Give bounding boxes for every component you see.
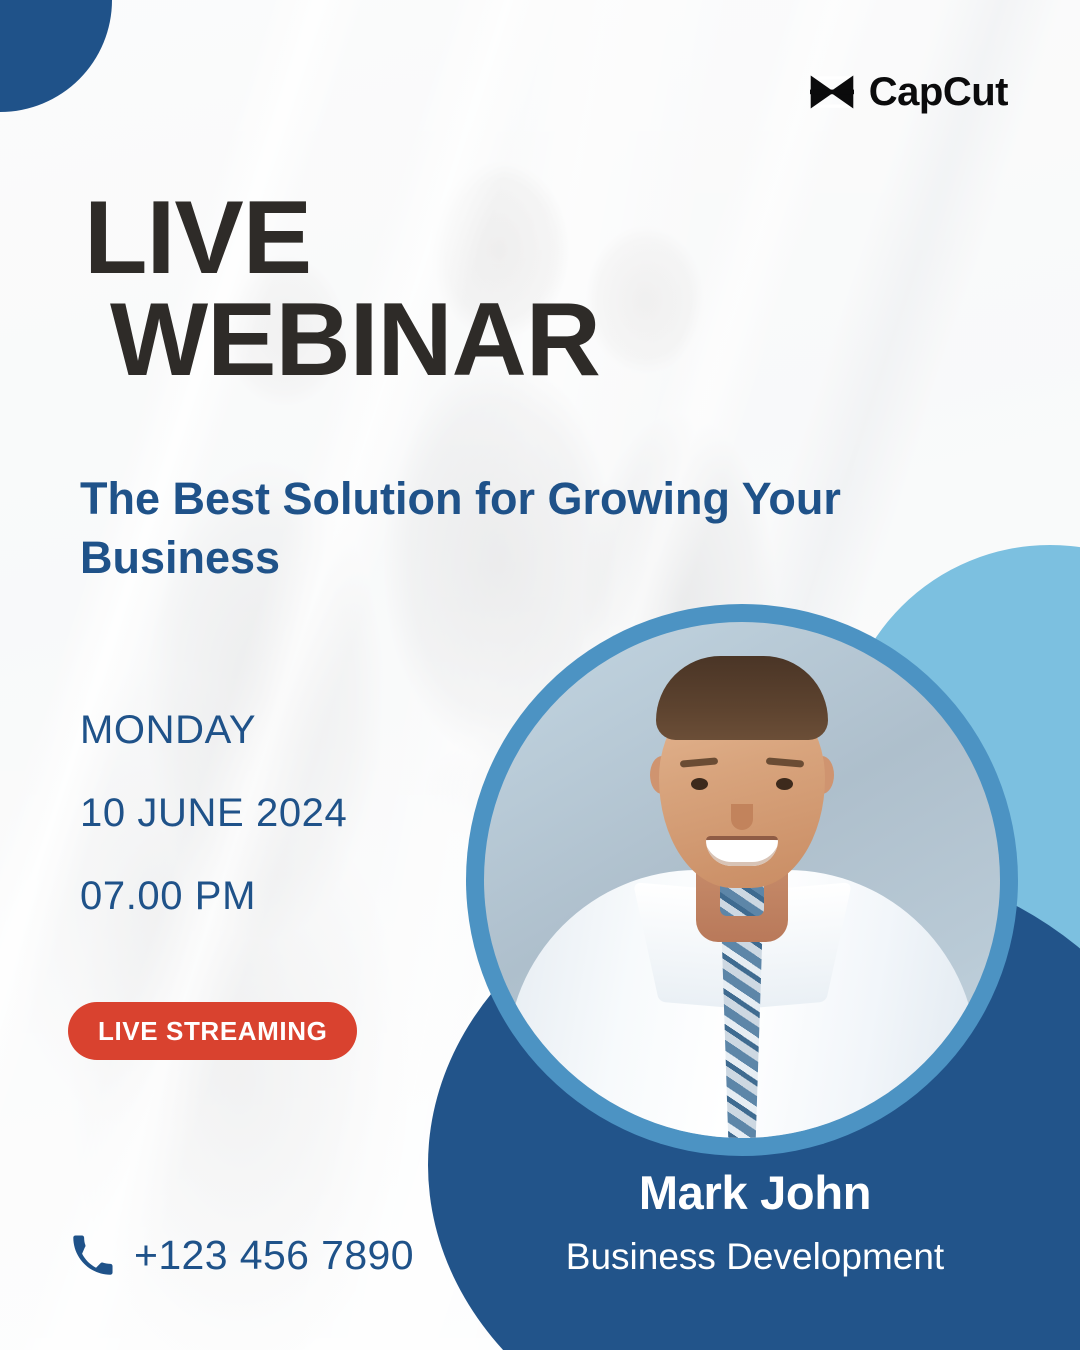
capcut-logo[interactable]: CapCut [809, 72, 1008, 112]
title-line-1: LIVE [84, 188, 600, 290]
live-streaming-badge[interactable]: LIVE STREAMING [68, 1002, 357, 1060]
speaker-role: Business Development [430, 1236, 1080, 1278]
event-day: MONDAY [80, 708, 347, 753]
page-subtitle: The Best Solution for Growing Your Busin… [80, 470, 860, 587]
page-title: LIVE WEBINAR [84, 188, 600, 392]
event-datetime-block: MONDAY 10 JUNE 2024 07.00 PM [80, 708, 347, 919]
portrait-hair [656, 656, 828, 740]
phone-handset-icon [70, 1234, 114, 1278]
capcut-logo-text: CapCut [869, 72, 1008, 112]
webinar-poster: CapCut LIVE WEBINAR The Best Solution fo… [0, 0, 1080, 1350]
capcut-bowtie-icon [809, 75, 855, 109]
portrait-eye-left [691, 778, 708, 790]
portrait-eye-right [776, 778, 793, 790]
event-date: 10 JUNE 2024 [80, 791, 347, 836]
phone-number: +123 456 7890 [134, 1232, 414, 1279]
speaker-name: Mark John [430, 1165, 1080, 1220]
contact-phone[interactable]: +123 456 7890 [70, 1232, 414, 1279]
title-line-2: WEBINAR [110, 290, 600, 392]
speaker-portrait [484, 622, 1000, 1138]
portrait-nose [731, 804, 753, 830]
event-time: 07.00 PM [80, 874, 347, 919]
speaker-info: Mark John Business Development [430, 1165, 1080, 1278]
